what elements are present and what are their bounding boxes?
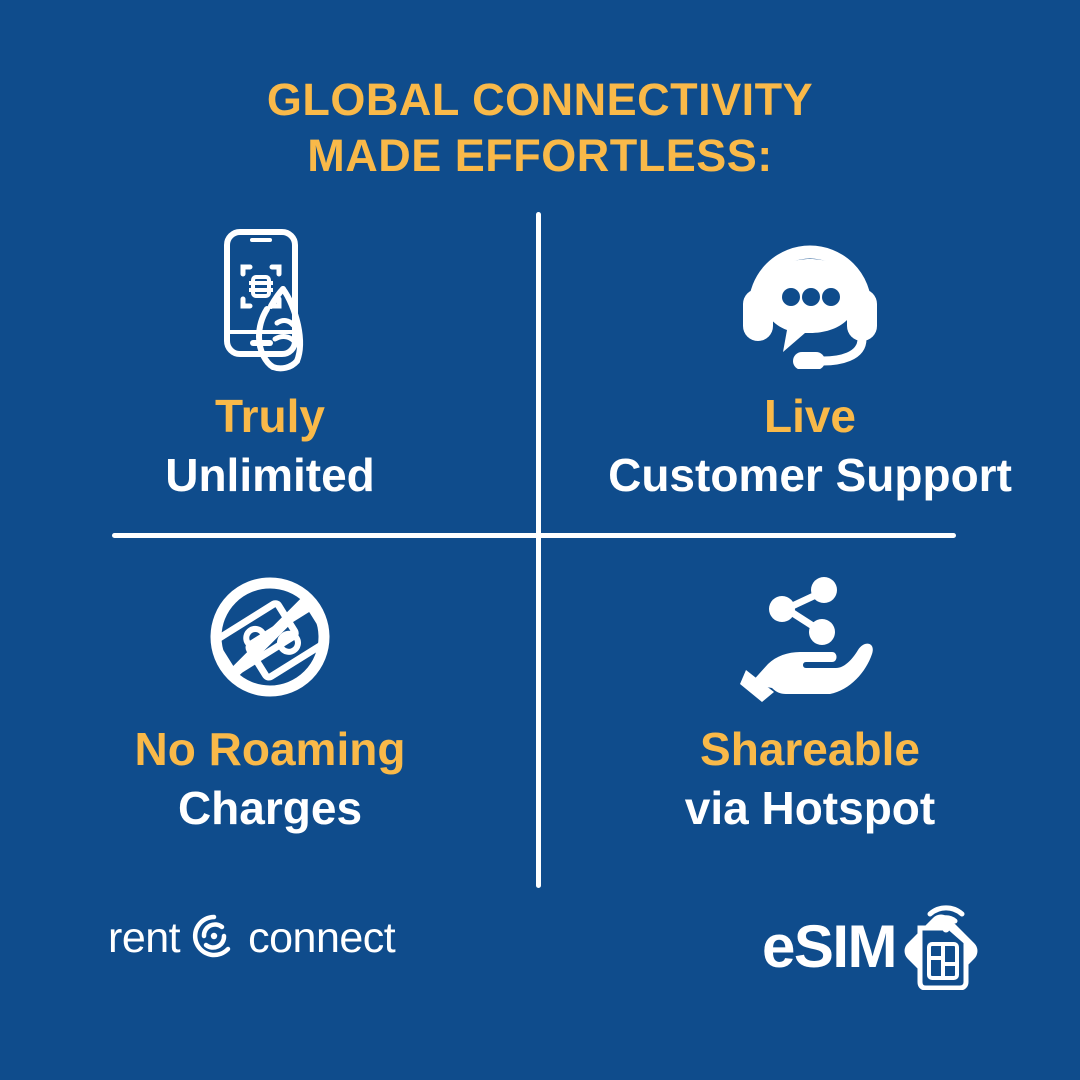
brand-logo-rent-connect: rent connect <box>108 912 395 965</box>
title-line-1: GLOBAL CONNECTIVITY <box>0 72 1080 128</box>
brand-word-rent: rent <box>108 917 180 960</box>
feature-cell-live-support: Live Customer Support <box>540 210 1080 535</box>
feature-label: Unlimited <box>165 444 375 506</box>
esim-badge: eSIM <box>762 898 984 995</box>
feature-highlight: No Roaming <box>135 721 406 777</box>
phone-qr-scan-hand-icon <box>205 224 335 374</box>
brand-word-connect: connect <box>248 917 395 960</box>
feature-cell-no-roaming: No Roaming Charges <box>0 535 540 890</box>
headset-chat-support-icon <box>735 224 885 374</box>
feature-label: via Hotspot <box>685 777 935 839</box>
feature-highlight: Truly <box>165 388 375 444</box>
feature-highlight: Live <box>608 388 1012 444</box>
feature-caption: Live Customer Support <box>608 388 1012 506</box>
feature-cell-truly-unlimited: Truly Unlimited <box>0 210 540 535</box>
feature-caption: Shareable via Hotspot <box>685 721 935 839</box>
feature-label: Charges <box>135 777 406 839</box>
feature-caption: Truly Unlimited <box>165 388 375 506</box>
esim-label: eSIM <box>762 917 896 977</box>
feature-caption: No Roaming Charges <box>135 721 406 839</box>
hand-share-network-icon <box>740 567 880 707</box>
poster-canvas: GLOBAL CONNECTIVITY MADE EFFORTLESS: <box>0 0 1080 1080</box>
feature-label: Customer Support <box>608 444 1012 506</box>
title-line-2: MADE EFFORTLESS: <box>0 128 1080 184</box>
feature-cell-shareable: Shareable via Hotspot <box>540 535 1080 890</box>
swirl-logo-icon <box>190 912 238 965</box>
feature-grid: Truly Unlimited <box>0 210 1080 890</box>
page-title: GLOBAL CONNECTIVITY MADE EFFORTLESS: <box>0 72 1080 184</box>
sim-card-wifi-icon <box>900 898 984 995</box>
feature-highlight: Shareable <box>685 721 935 777</box>
no-money-roaming-icon <box>204 567 336 707</box>
